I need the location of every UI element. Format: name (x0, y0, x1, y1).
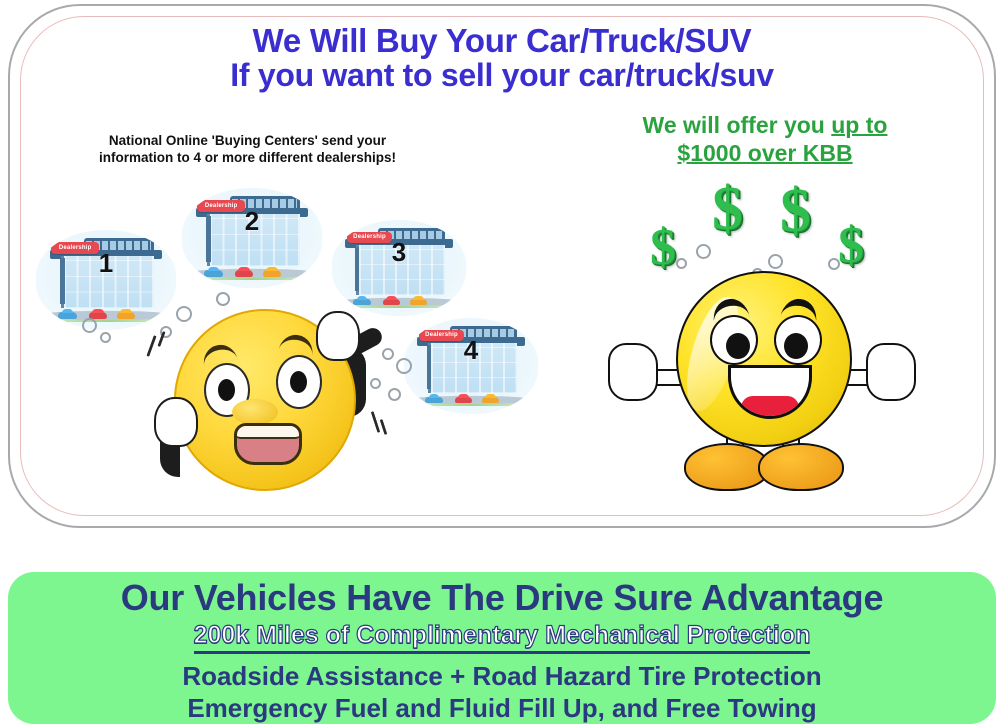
worried-smiley-illustration (150, 301, 390, 491)
motion-line (371, 411, 381, 433)
dealership-car (117, 312, 135, 319)
dealership-number: 2 (182, 206, 322, 237)
dealership-car (204, 270, 222, 277)
thought-bubble (100, 332, 111, 343)
banner-headline: Our Vehicles Have The Drive Sure Advanta… (8, 578, 996, 618)
worried-pupil-left (218, 379, 235, 401)
offer-line-2-underlined: $1000 over KBB (677, 140, 852, 166)
banner-highlight-text: 200k Miles of Complimentary Mechanical P… (194, 620, 811, 654)
page-title: We Will Buy Your Car/Truck/SUV If you wa… (10, 24, 994, 93)
thought-bubble (82, 318, 97, 333)
headline-line-2: If you want to sell your car/truck/suv (10, 59, 994, 93)
dollar-sign-icon: $ (712, 174, 743, 245)
drive-sure-advantage-banner: Our Vehicles Have The Drive Sure Advanta… (8, 572, 996, 724)
headline-line-1: We Will Buy Your Car/Truck/SUV (10, 24, 994, 59)
dealership-car (482, 397, 499, 404)
motion-line (157, 331, 165, 347)
worried-eye-right (276, 355, 322, 409)
worried-hand-right (316, 311, 360, 361)
dealership-card-2: Dealership 2 (182, 188, 322, 288)
dealership-car (235, 270, 253, 277)
motion-line (146, 335, 156, 357)
dealership-number: 4 (404, 335, 538, 366)
dealership-car (263, 270, 281, 277)
dollar-sign-icon: $ (780, 176, 811, 247)
buying-centers-caption: National Online 'Buying Centers' send yo… (65, 132, 430, 167)
offer-line-1-plain: We will offer you (643, 112, 832, 138)
thumbs-up-icon-left (608, 343, 658, 401)
worried-brow-right (279, 332, 316, 356)
caption-line-2: information to 4 or more different deale… (65, 149, 430, 166)
thumbs-up-icon-right (866, 343, 916, 401)
promo-panel: We Will Buy Your Car/Truck/SUV If you wa… (8, 4, 996, 528)
dealership-number: 1 (36, 248, 176, 279)
happy-smiley-illustration (610, 261, 910, 491)
worried-pupil-right (290, 371, 307, 393)
dealership-car (455, 397, 472, 404)
offer-line-1: We will offer you up to (580, 111, 950, 139)
offer-callout: We will offer you up to $1000 over KBB (580, 111, 950, 167)
dealership-car (425, 397, 442, 404)
happy-face (676, 271, 852, 447)
dealership-car (410, 299, 427, 306)
worried-hand-left (154, 397, 198, 447)
banner-benefit-line-1: Roadside Assistance + Road Hazard Tire P… (8, 661, 996, 692)
banner-benefit-line-2: Emergency Fuel and Fluid Fill Up, and Fr… (8, 693, 996, 724)
happy-tongue (741, 396, 799, 416)
happy-eye-right (774, 315, 822, 365)
sparkle-bubble (696, 244, 711, 259)
dealership-card-4: Dealership 4 (404, 318, 538, 414)
happy-pupil-left (726, 333, 750, 359)
happy-mouth (728, 365, 812, 419)
banner-highlight-row: 200k Miles of Complimentary Mechanical P… (8, 618, 996, 654)
worried-nose (232, 399, 278, 425)
happy-pupil-right (784, 333, 808, 359)
happy-shoe-right (758, 443, 844, 491)
worried-brow-left (201, 342, 238, 367)
caption-line-1: National Online 'Buying Centers' send yo… (65, 132, 430, 149)
dealership-car (58, 312, 76, 319)
motion-line (380, 419, 388, 435)
worried-mouth (234, 423, 302, 465)
happy-eye-left (710, 315, 758, 365)
thought-bubble (396, 358, 412, 374)
worried-teeth (235, 424, 301, 439)
dealership-number: 3 (332, 237, 466, 268)
offer-line-2: $1000 over KBB (580, 139, 950, 167)
offer-line-1-underlined: up to (831, 112, 887, 138)
